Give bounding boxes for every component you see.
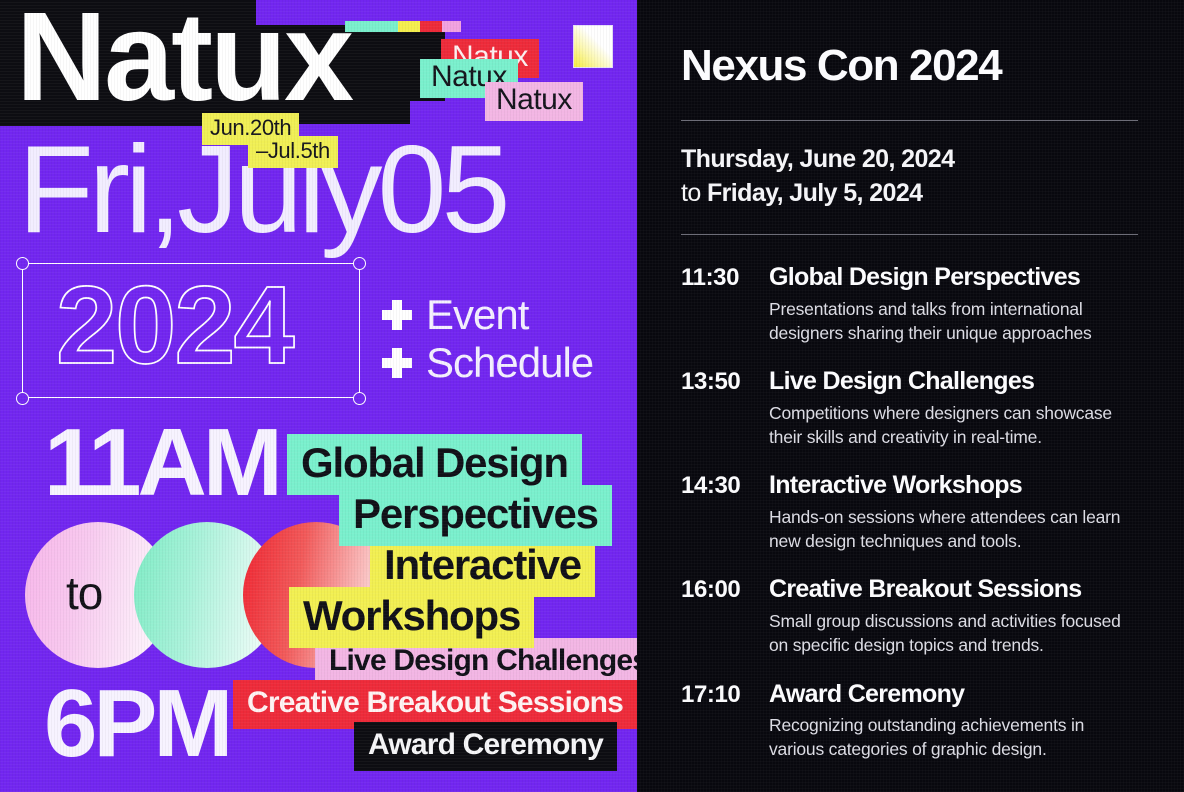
schedule-item-description: Recognizing outstanding achievements in … [769, 713, 1138, 761]
schedule-item-title: Creative Breakout Sessions [769, 575, 1138, 604]
poster-to-word: to [66, 570, 102, 616]
schedule-item: 16:00Creative Breakout SessionsSmall gro… [681, 575, 1138, 657]
event-date-range: Thursday, June 20, 2024 to Friday, July … [681, 143, 1138, 210]
color-strip-segment-red [420, 21, 442, 32]
selection-handle-top-left[interactable] [16, 257, 29, 270]
session-block-award-ceremony: Award Ceremony [354, 722, 617, 771]
schedule-item-body: Live Design ChallengesCompetitions where… [769, 367, 1138, 449]
schedule-item-description: Presentations and talks from internation… [769, 297, 1138, 345]
event-label-event: Event [426, 294, 528, 336]
color-strip-segment-yellow [398, 21, 420, 32]
color-strip-segment-mint [345, 21, 398, 32]
schedule-item-body: Interactive WorkshopsHands-on sessions w… [769, 471, 1138, 553]
poster-left-panel: Natux Natux Natux Natux Jun.20th –Jul.5t… [0, 0, 637, 792]
schedule-item: 17:10Award CeremonyRecognizing outstandi… [681, 680, 1138, 762]
schedule-item: 11:30Global Design PerspectivesPresentat… [681, 263, 1138, 345]
schedule-item-title: Award Ceremony [769, 680, 1138, 709]
schedule-item-time: 14:30 [681, 471, 769, 553]
color-strip [345, 21, 461, 32]
schedule-item-time: 16:00 [681, 575, 769, 657]
brand-chip-pink: Natux [485, 82, 583, 121]
divider-bottom [681, 234, 1138, 235]
schedule-item-description: Competitions where designers can showcas… [769, 401, 1138, 449]
date-range-connector: to [681, 179, 707, 207]
event-date-start: Thursday, June 20, 2024 [681, 143, 1138, 177]
color-strip-segment-pink [442, 21, 461, 32]
schedule-item-body: Creative Breakout SessionsSmall group di… [769, 575, 1138, 657]
brand-wordmark: Natux [16, 0, 351, 120]
schedule-item-time: 13:50 [681, 367, 769, 449]
schedule-item-description: Small group discussions and activities f… [769, 609, 1138, 657]
poster-year-outline: 2024 [56, 271, 293, 381]
schedule-item-title: Live Design Challenges [769, 367, 1138, 396]
schedule-item-title: Global Design Perspectives [769, 263, 1138, 292]
panel-content: Nexus Con 2024 Thursday, June 20, 2024 t… [637, 0, 1184, 762]
schedule-right-panel: Nexus Con 2024 Thursday, June 20, 2024 t… [637, 0, 1184, 792]
schedule-list: 11:30Global Design PerspectivesPresentat… [681, 263, 1138, 761]
schedule-item-time: 11:30 [681, 263, 769, 345]
event-label-row-2: Schedule [382, 342, 593, 384]
plus-icon [382, 300, 412, 330]
event-date-end: Friday, July 5, 2024 [707, 179, 922, 207]
selection-handle-top-right[interactable] [353, 257, 366, 270]
page-title: Nexus Con 2024 [681, 42, 1138, 90]
schedule-item: 13:50Live Design ChallengesCompetitions … [681, 367, 1138, 449]
plus-icon [382, 348, 412, 378]
event-label-schedule: Schedule [426, 342, 593, 384]
schedule-item-description: Hands-on sessions where attendees can le… [769, 505, 1138, 553]
event-label-row-1: Event [382, 294, 528, 336]
poster-time-end: 6PM [44, 676, 229, 772]
session-block-global-design: Global Design [287, 434, 582, 495]
schedule-item: 14:30Interactive WorkshopsHands-on sessi… [681, 471, 1138, 553]
schedule-item-body: Global Design PerspectivesPresentations … [769, 263, 1138, 345]
selection-handle-bottom-right[interactable] [353, 392, 366, 405]
date-chip-end: –Jul.5th [248, 136, 338, 168]
schedule-item-title: Interactive Workshops [769, 471, 1138, 500]
event-date-end-row: to Friday, July 5, 2024 [681, 177, 1138, 211]
schedule-item-body: Award CeremonyRecognizing outstanding ac… [769, 680, 1138, 762]
schedule-item-time: 17:10 [681, 680, 769, 762]
selection-handle-bottom-left[interactable] [16, 392, 29, 405]
gradient-square-decoration [573, 25, 613, 68]
divider-top [681, 120, 1138, 121]
poster-time-start: 11AM [44, 415, 279, 511]
poster-page: Natux Natux Natux Natux Jun.20th –Jul.5t… [0, 0, 1184, 792]
